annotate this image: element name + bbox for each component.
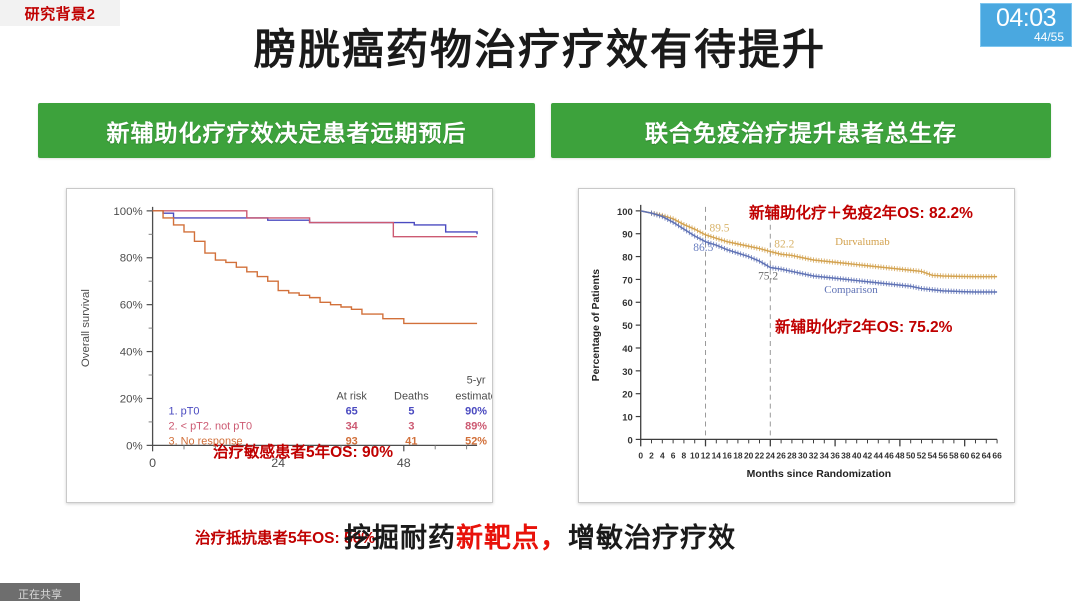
svg-text:40: 40 bbox=[622, 344, 633, 355]
svg-text:100: 100 bbox=[617, 207, 633, 218]
svg-text:0: 0 bbox=[638, 450, 643, 460]
caption-highlight: 新靶点， bbox=[456, 523, 568, 553]
svg-text:80: 80 bbox=[622, 253, 633, 264]
svg-text:4: 4 bbox=[660, 450, 665, 460]
svg-text:89.5: 89.5 bbox=[709, 222, 729, 234]
svg-text:50: 50 bbox=[622, 321, 633, 332]
svg-text:52: 52 bbox=[917, 450, 927, 460]
svg-text:8: 8 bbox=[682, 450, 687, 460]
annotation-right-bottom: 新辅助化疗2年OS: 75.2% bbox=[775, 315, 952, 337]
svg-text:14: 14 bbox=[712, 450, 722, 460]
svg-text:36: 36 bbox=[830, 450, 840, 460]
chart-panel-right: 0102030405060708090100024681012141618202… bbox=[578, 188, 1015, 503]
svg-text:0: 0 bbox=[627, 435, 632, 446]
svg-text:80%: 80% bbox=[120, 253, 143, 265]
svg-text:0%: 0% bbox=[126, 440, 143, 452]
right-km-plot: 0102030405060708090100024681012141618202… bbox=[579, 189, 1014, 502]
svg-text:48: 48 bbox=[397, 456, 411, 470]
svg-text:64: 64 bbox=[982, 450, 992, 460]
screen-share-label: 正在共享 bbox=[18, 590, 62, 601]
annotation-right-top: 新辅助化疗＋免疫2年OS: 82.2% bbox=[749, 201, 973, 223]
svg-text:1. pT0: 1. pT0 bbox=[169, 406, 200, 418]
svg-text:Months since Randomization: Months since Randomization bbox=[747, 469, 892, 480]
svg-text:24: 24 bbox=[766, 450, 776, 460]
svg-text:Durvalumab: Durvalumab bbox=[835, 236, 890, 248]
svg-text:16: 16 bbox=[722, 450, 732, 460]
svg-text:20%: 20% bbox=[120, 393, 143, 405]
svg-text:44: 44 bbox=[874, 450, 884, 460]
svg-text:3: 3 bbox=[408, 420, 414, 432]
svg-text:28: 28 bbox=[787, 450, 797, 460]
page-title: 膀胱癌药物治疗疗效有待提升 bbox=[0, 16, 1080, 77]
caption-after: 增敏治疗疗效 bbox=[568, 523, 736, 553]
svg-text:2. < pT2. not pT0: 2. < pT2. not pT0 bbox=[169, 420, 253, 432]
svg-text:32: 32 bbox=[809, 450, 819, 460]
svg-text:58: 58 bbox=[949, 450, 959, 460]
svg-text:estimate: estimate bbox=[455, 391, 492, 403]
svg-text:60%: 60% bbox=[120, 300, 143, 312]
svg-text:Comparison: Comparison bbox=[824, 284, 878, 296]
svg-text:Deaths: Deaths bbox=[394, 391, 429, 403]
bottom-strip bbox=[0, 583, 1080, 601]
svg-text:10: 10 bbox=[690, 450, 700, 460]
svg-text:75.2: 75.2 bbox=[758, 270, 778, 282]
section-header-left-label: 新辅助化疗疗效决定患者远期预后 bbox=[107, 114, 467, 148]
svg-text:10: 10 bbox=[622, 413, 633, 424]
section-header-right-label: 联合免疫治疗提升患者总生存 bbox=[645, 114, 957, 148]
svg-text:54: 54 bbox=[928, 450, 938, 460]
svg-text:22: 22 bbox=[755, 450, 765, 460]
svg-text:62: 62 bbox=[971, 450, 981, 460]
svg-text:40: 40 bbox=[852, 450, 862, 460]
svg-text:20: 20 bbox=[744, 450, 754, 460]
svg-text:90: 90 bbox=[622, 230, 633, 241]
svg-text:48: 48 bbox=[895, 450, 905, 460]
svg-text:65: 65 bbox=[346, 406, 358, 418]
chart-panel-left: 0%20%40%60%80%100%02448Overall survival5… bbox=[66, 188, 493, 503]
svg-text:12: 12 bbox=[701, 450, 711, 460]
svg-text:5-yr: 5-yr bbox=[467, 375, 486, 387]
svg-text:60: 60 bbox=[622, 298, 633, 309]
caption-before: 挖掘耐药 bbox=[344, 523, 456, 553]
slide-caption: 挖掘耐药新靶点，增敏治疗疗效 bbox=[0, 516, 1080, 555]
svg-text:2: 2 bbox=[649, 450, 654, 460]
section-header-left: 新辅助化疗疗效决定患者远期预后 bbox=[38, 103, 535, 158]
right-km-svg: 0102030405060708090100024681012141618202… bbox=[579, 189, 1014, 502]
svg-text:40%: 40% bbox=[120, 347, 143, 359]
annotation-left-top: 治疗敏感患者5年OS: 90% bbox=[213, 440, 393, 462]
screen-share-indicator: 正在共享 bbox=[0, 583, 80, 601]
svg-text:89%: 89% bbox=[465, 420, 487, 432]
svg-text:50: 50 bbox=[906, 450, 916, 460]
svg-text:20: 20 bbox=[622, 390, 633, 401]
section-header-right: 联合免疫治疗提升患者总生存 bbox=[551, 103, 1051, 158]
svg-text:18: 18 bbox=[733, 450, 743, 460]
svg-text:6: 6 bbox=[671, 450, 676, 460]
svg-text:52%: 52% bbox=[465, 435, 487, 447]
svg-text:0: 0 bbox=[149, 456, 156, 470]
svg-text:30: 30 bbox=[798, 450, 808, 460]
svg-text:46: 46 bbox=[884, 450, 894, 460]
svg-text:41: 41 bbox=[405, 435, 417, 447]
svg-text:34: 34 bbox=[346, 420, 359, 432]
svg-text:60: 60 bbox=[960, 450, 970, 460]
svg-text:26: 26 bbox=[776, 450, 786, 460]
svg-text:38: 38 bbox=[841, 450, 851, 460]
slide-root: 研究背景2 04:03 44/55 膀胱癌药物治疗疗效有待提升 新辅助化疗疗效决… bbox=[0, 0, 1080, 601]
svg-text:Overall survival: Overall survival bbox=[80, 289, 92, 367]
svg-text:90%: 90% bbox=[465, 406, 487, 418]
svg-text:30: 30 bbox=[622, 367, 633, 378]
svg-text:100%: 100% bbox=[113, 206, 142, 218]
svg-text:56: 56 bbox=[938, 450, 948, 460]
svg-text:42: 42 bbox=[863, 450, 873, 460]
svg-text:34: 34 bbox=[820, 450, 830, 460]
svg-text:5: 5 bbox=[408, 406, 414, 418]
svg-text:Percentage of Patients: Percentage of Patients bbox=[591, 269, 602, 382]
svg-text:86.5: 86.5 bbox=[693, 242, 713, 254]
svg-text:66: 66 bbox=[992, 450, 1002, 460]
svg-text:82.2: 82.2 bbox=[774, 238, 794, 250]
svg-text:At risk: At risk bbox=[336, 391, 367, 403]
svg-text:70: 70 bbox=[622, 275, 633, 286]
